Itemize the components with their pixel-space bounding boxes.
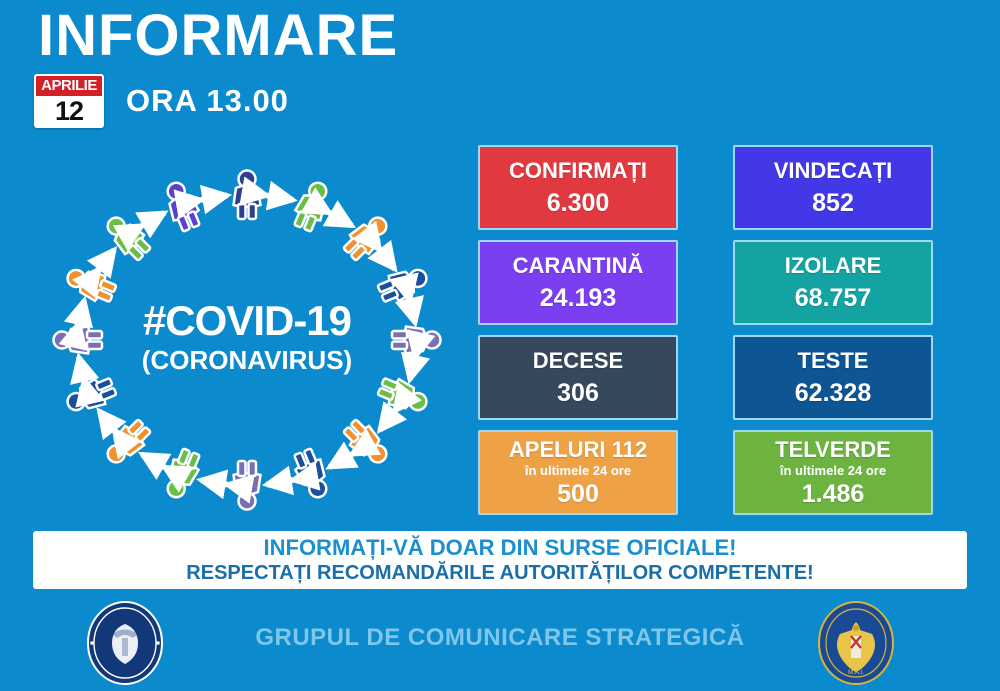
stat-label: APELURI 112	[509, 437, 647, 463]
svg-text:M.A.I.: M.A.I.	[848, 670, 864, 676]
distance-arrow-icon	[330, 213, 352, 226]
header: INFORMARE APRILIE 12 ORA 13.00	[0, 0, 1000, 140]
statistics-grid: CONFIRMAȚI6.300VINDECAȚI852CARANTINĂ24.1…	[478, 145, 933, 517]
person-figure	[63, 374, 118, 418]
covid-social-distancing-graphic: #COVID-19 (CORONAVIRUS)	[32, 160, 462, 520]
distance-arrow-icon	[201, 195, 227, 200]
calendar-icon: APRILIE 12	[34, 74, 104, 128]
calendar-day-label: 12	[36, 96, 102, 127]
stat-sublabel: în ultimele 24 ore	[525, 463, 631, 478]
stat-value: 500	[557, 479, 599, 509]
person-figure	[54, 327, 103, 354]
stat-value: 306	[557, 378, 599, 408]
person-figure	[290, 447, 334, 502]
stat-box-carantin: CARANTINĂ24.193	[478, 240, 678, 325]
stat-label: IZOLARE	[785, 253, 882, 279]
stat-box-teste: TESTE62.328	[733, 335, 933, 420]
distance-arrow-icon	[410, 357, 415, 380]
person-figure	[234, 171, 261, 220]
person-figure	[160, 447, 204, 502]
stat-label: CONFIRMAȚI	[509, 158, 647, 184]
distance-arrow-icon	[142, 454, 164, 467]
distance-arrow-icon	[267, 480, 293, 485]
stat-label: TELVERDE	[775, 437, 891, 463]
notice-line-1: INFORMAȚI-VĂ DOAR DIN SURSE OFICIALE!	[264, 535, 737, 561]
distance-arrow-icon	[79, 357, 84, 380]
distance-arrow-icon	[79, 300, 84, 323]
stat-label: CARANTINĂ	[513, 253, 644, 279]
distancing-circle-svg	[32, 160, 462, 520]
stat-box-telverde: TELVERDEîn ultimele 24 ore1.486	[733, 430, 933, 515]
person-figure	[63, 263, 118, 307]
stat-box-apeluri-112: APELURI 112în ultimele 24 ore500	[478, 430, 678, 515]
distance-arrow-icon	[142, 213, 164, 226]
notice-line-2: RESPECTAȚI RECOMANDĂRILE AUTORITĂȚILOR C…	[186, 561, 813, 585]
person-figure	[376, 374, 431, 418]
distance-arrow-icon	[201, 480, 227, 485]
stat-box-confirma-i: CONFIRMAȚI6.300	[478, 145, 678, 230]
stat-box-vindeca-i: VINDECAȚI852	[733, 145, 933, 230]
distance-arrow-icon	[380, 250, 395, 269]
stat-label: VINDECAȚI	[774, 158, 893, 184]
distance-arrow-icon	[267, 195, 293, 200]
person-figure	[392, 327, 441, 354]
stat-box-izolare: IZOLARE68.757	[733, 240, 933, 325]
person-figure	[234, 461, 261, 510]
page-title: INFORMARE	[38, 4, 398, 68]
stat-value: 852	[812, 188, 854, 218]
distance-arrow-icon	[99, 411, 114, 430]
official-sources-notice-banner: INFORMAȚI-VĂ DOAR DIN SURSE OFICIALE! RE…	[33, 531, 967, 589]
person-figure	[290, 178, 334, 233]
departamentul-situatii-urgenta-seal-icon: M.A.I.	[813, 600, 899, 686]
distance-arrow-icon	[330, 454, 352, 467]
footer: GRUPUL DE COMUNICARE STRATEGICĂ M.A.I.	[0, 596, 1000, 688]
stat-box-decese: DECESE306	[478, 335, 678, 420]
distance-arrow-icon	[99, 250, 114, 269]
date-row: APRILIE 12 ORA 13.00	[34, 74, 289, 128]
person-figure	[376, 263, 431, 307]
distancing-figures-group	[54, 171, 441, 510]
stat-value: 62.328	[795, 378, 871, 408]
stat-label: TESTE	[798, 348, 869, 374]
stat-label: DECESE	[533, 348, 623, 374]
calendar-month-label: APRILIE	[36, 76, 102, 96]
distance-arrow-icon	[410, 300, 415, 323]
stat-value: 24.193	[540, 283, 616, 313]
stat-value: 1.486	[802, 479, 865, 509]
person-figure	[160, 178, 204, 233]
stat-value: 6.300	[547, 188, 610, 218]
time-label: ORA 13.00	[126, 83, 289, 119]
distance-arrow-icon	[380, 411, 395, 430]
stat-value: 68.757	[795, 283, 871, 313]
stat-sublabel: în ultimele 24 ore	[780, 463, 886, 478]
